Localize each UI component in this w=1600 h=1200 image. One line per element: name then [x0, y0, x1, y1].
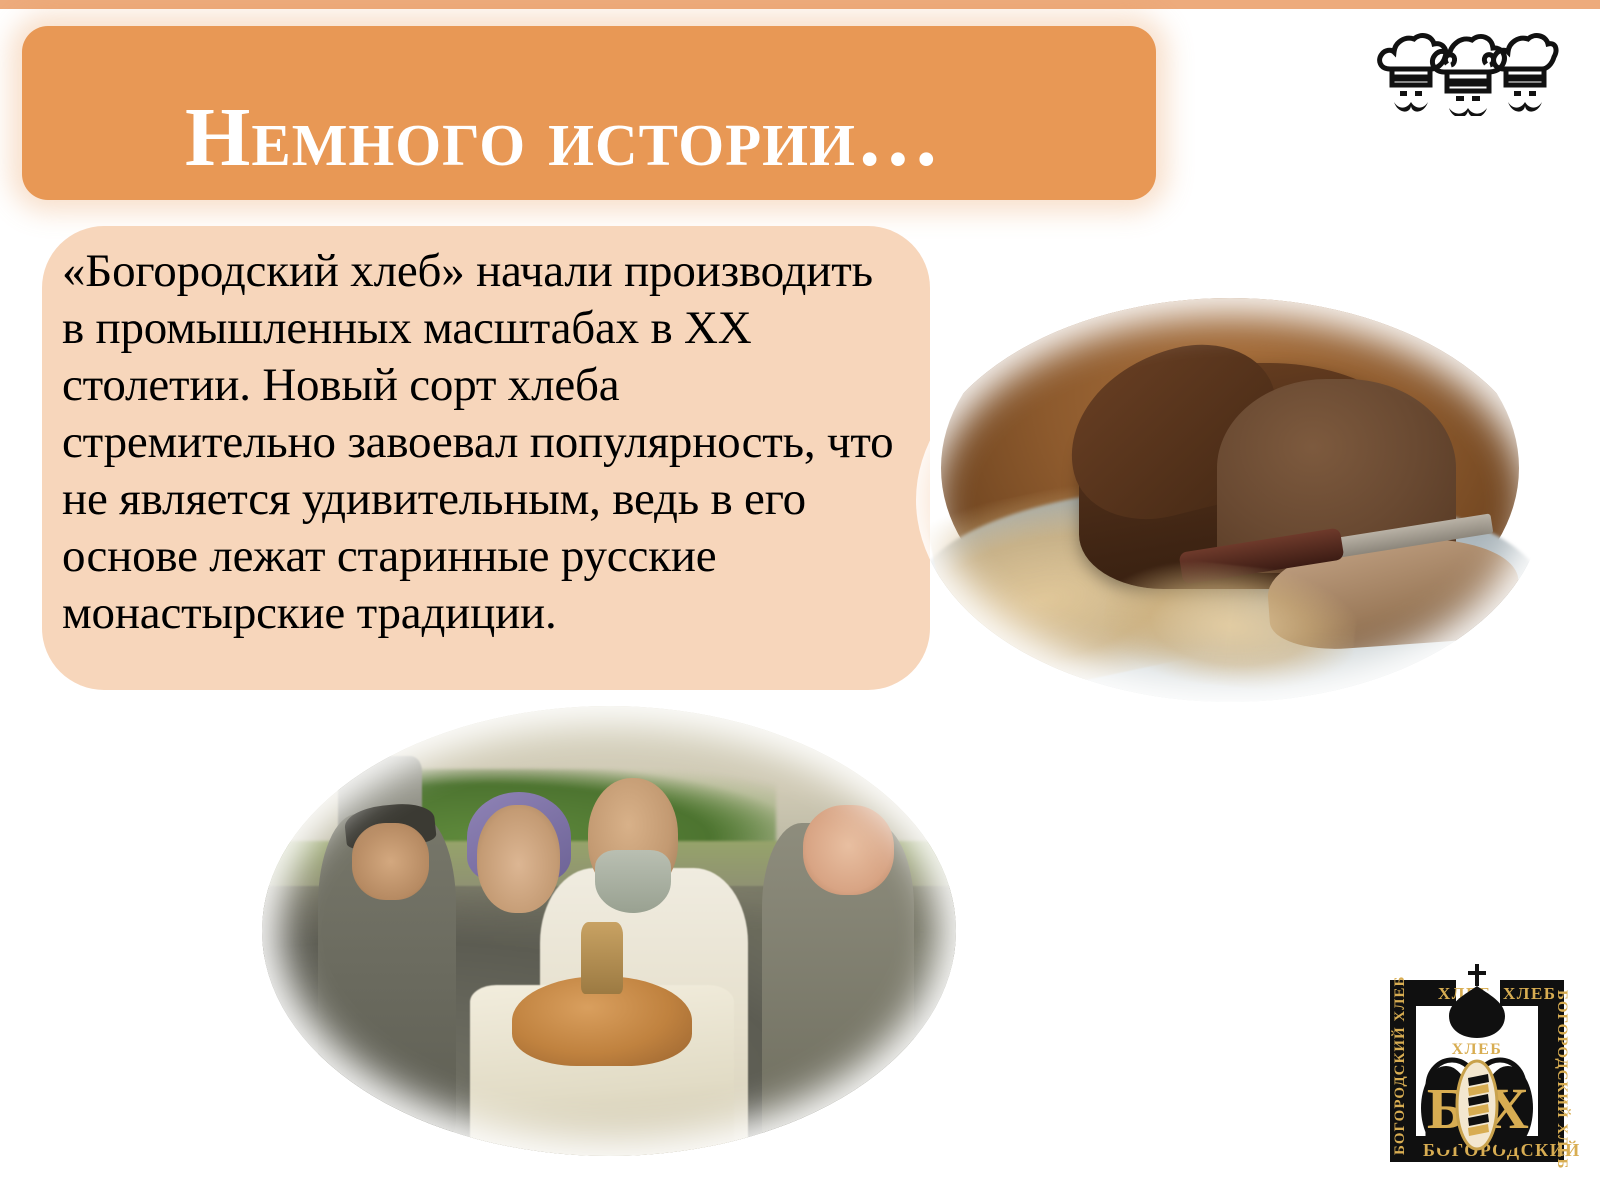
logo-dome-word: ХЛЕБ	[1452, 1041, 1503, 1058]
body-paragraph: «Богородский хлеб» начали производить в …	[62, 243, 902, 642]
painting-woman-face	[477, 805, 560, 913]
bogorodsky-khleb-logo: ХЛЕБ ХЛЕБ БОГОРОДСКИЙ БОГОРОДСКИЙ ХЛЕБ Б…	[1368, 950, 1586, 1176]
logo-top-right-word: ХЛЕБ	[1503, 984, 1557, 1003]
church-dome-icon	[1449, 964, 1505, 1038]
painting-face-right	[803, 805, 893, 895]
rye-bread-photo	[916, 298, 1544, 702]
painting-salt-cellar	[581, 922, 623, 994]
logo-left-word: БОГОРОДСКИЙ ХЛЕБ	[1391, 976, 1408, 1155]
title-banner: Немного истории…	[22, 26, 1156, 200]
chef-hats-icon	[1374, 24, 1560, 116]
bread-and-salt-painting	[262, 706, 956, 1156]
top-accent-strip	[0, 0, 1600, 9]
painting-elder-beard	[595, 850, 671, 913]
page-title: Немного истории…	[185, 88, 1085, 188]
painting-face-left	[352, 823, 428, 900]
logo-right-word: БОГОРОДСКИЙ ХЛЕБ	[1554, 990, 1571, 1169]
logo-bread-icon	[1457, 1061, 1497, 1149]
wheat-ears-front	[1099, 552, 1361, 699]
